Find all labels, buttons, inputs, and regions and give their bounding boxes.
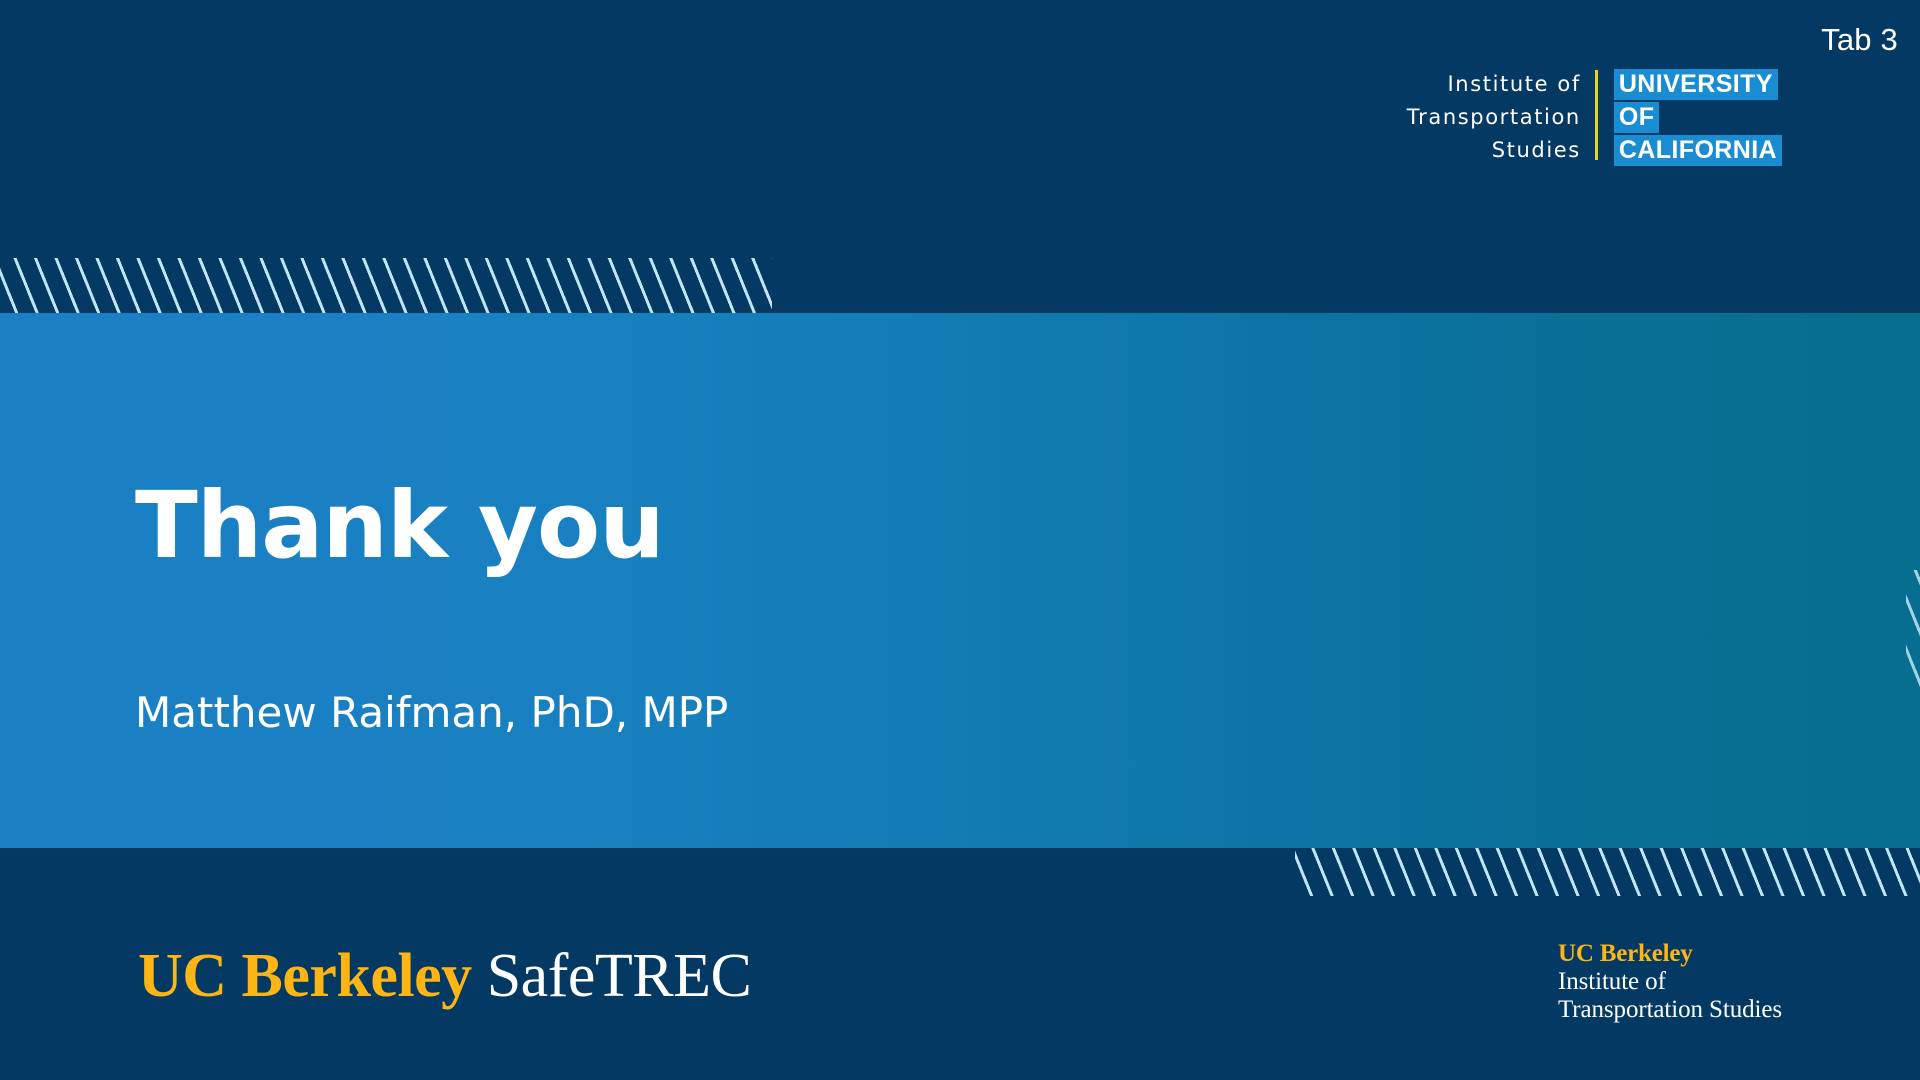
diagonal-hatch-decoration-top [0, 258, 772, 313]
header-university-line-1: UNIVERSITY [1614, 69, 1778, 100]
footer-safetrec-uc-berkeley: UC Berkeley [138, 945, 472, 1007]
diagonal-hatch-decoration-bottom [1295, 848, 1920, 896]
header-institute-line-2: Transportation [1407, 101, 1581, 134]
header-university-wordmark: UNIVERSITY OF CALIFORNIA [1598, 68, 1782, 166]
footer-its-line-3: Transportation Studies [1558, 996, 1782, 1024]
footer-safetrec-unit-name: SafeTREC [487, 945, 752, 1007]
footer-safetrec-logo: UC Berkeley SafeTREC [138, 945, 751, 1007]
tab-indicator-label: Tab 3 [1821, 24, 1898, 55]
header-university-line-3: CALIFORNIA [1614, 135, 1782, 166]
presentation-slide: Tab 3 Institute of Transportation Studie… [0, 0, 1920, 1080]
header-institute-line-3: Studies [1492, 134, 1581, 167]
diagonal-hatch-decoration-right [1906, 570, 1920, 690]
header-institute-line-1: Institute of [1448, 68, 1581, 101]
presenter-name: Matthew Raifman, PhD, MPP [135, 688, 728, 738]
footer-its-line-2: Institute of [1558, 968, 1782, 996]
footer-its-logo: UC Berkeley Institute of Transportation … [1558, 940, 1782, 1024]
header-university-line-2: OF [1614, 102, 1660, 133]
header-institute-wordmark: Institute of Transportation Studies [1407, 68, 1595, 166]
page-title: Thank you [135, 478, 664, 575]
header-institution-logo: Institute of Transportation Studies UNIV… [1407, 68, 1782, 166]
footer-its-uc-berkeley: UC Berkeley [1558, 940, 1782, 968]
main-banner [0, 313, 1920, 848]
